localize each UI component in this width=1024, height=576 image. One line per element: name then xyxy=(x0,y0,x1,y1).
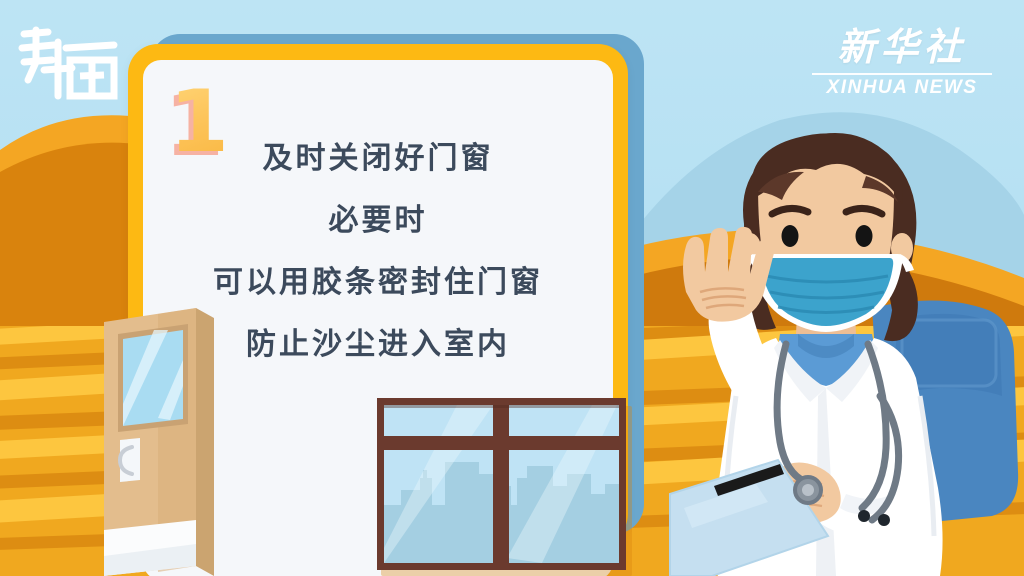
card-text-line-2: 必要时 xyxy=(143,190,613,252)
infographic-canvas: 新华社 XINHUA NEWS 1 1 及时关闭好门窗 必要时 可以用胶条密封住… xyxy=(0,0,1024,576)
xinhua-news-logo: 新华社 XINHUA NEWS xyxy=(812,28,992,99)
card-text-line-1: 及时关闭好门窗 xyxy=(143,128,613,190)
closed-door xyxy=(96,308,224,576)
doctor-figure xyxy=(640,96,1024,576)
xinhua-logo-cn: 新华社 xyxy=(812,28,992,70)
xinhua-logo-rule xyxy=(812,73,992,75)
kehua-logo xyxy=(14,18,122,106)
closed-window xyxy=(377,398,632,576)
card-text-line-3: 可以用胶条密封住门窗 xyxy=(143,252,613,314)
